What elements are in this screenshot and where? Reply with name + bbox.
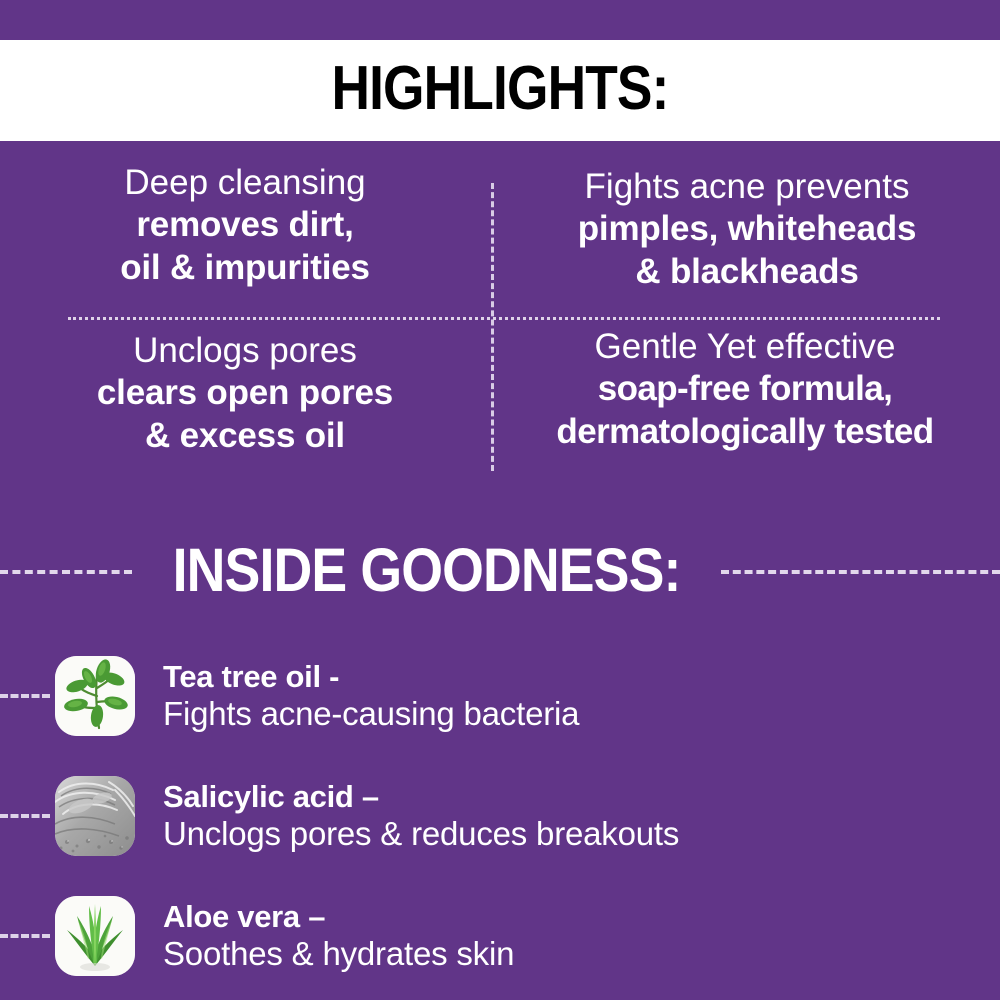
ingredient-connector-line [0, 694, 50, 698]
ingredient-name: Aloe vera – [163, 899, 514, 935]
inside-goodness-title: INSIDE GOODNESS: [167, 540, 685, 601]
inside-goodness-heading-row: INSIDE GOODNESS: [0, 534, 1000, 606]
highlight-bold-text-line1: pimples, whiteheads [512, 208, 982, 250]
highlight-item-gentle-effective: Gentle Yet effective soap-free formula, … [510, 326, 980, 453]
highlight-bold-text-line1: removes dirt, [10, 204, 480, 246]
heading-dash-right [721, 570, 1000, 574]
ingredient-connector-line [0, 934, 50, 938]
page-title: HIGHLIGHTS: [331, 58, 668, 123]
highlights-header-band: HIGHLIGHTS: [0, 40, 1000, 141]
highlights-grid: Deep cleansing removes dirt, oil & impur… [0, 150, 1000, 490]
ingredient-name: Tea tree oil - [163, 659, 579, 695]
highlight-item-deep-cleansing: Deep cleansing removes dirt, oil & impur… [10, 162, 480, 289]
highlight-bold-text-line2: & excess oil [10, 415, 480, 457]
ingredient-connector-line [0, 814, 50, 818]
salicylic-gel-texture-icon [55, 776, 135, 856]
ingredient-description: Unclogs pores & reduces breakouts [163, 815, 679, 853]
highlight-bold-text-line1: soap-free formula, [510, 368, 980, 410]
grid-vertical-divider [491, 183, 494, 471]
highlight-bold-text-line2: & blackheads [512, 251, 982, 293]
product-highlights-infographic: HIGHLIGHTS: Deep cleansing removes dirt,… [0, 0, 1000, 1000]
ingredient-text-block: Tea tree oil - Fights acne-causing bacte… [163, 659, 579, 733]
ingredient-name: Salicylic acid – [163, 779, 679, 815]
ingredient-list: Tea tree oil - Fights acne-causing bacte… [0, 636, 1000, 996]
ingredient-description: Soothes & hydrates skin [163, 935, 514, 973]
highlight-light-text: Gentle Yet effective [510, 326, 980, 368]
ingredient-row-aloe-vera: Aloe vera – Soothes & hydrates skin [0, 876, 1000, 996]
highlight-item-fights-acne: Fights acne prevents pimples, whiteheads… [512, 166, 982, 293]
highlight-bold-text-line1: clears open pores [10, 372, 480, 414]
heading-dash-left [0, 570, 132, 574]
highlight-light-text: Fights acne prevents [512, 166, 982, 208]
grid-horizontal-divider [68, 317, 940, 320]
highlight-bold-text-line2: oil & impurities [10, 247, 480, 289]
highlight-light-text: Deep cleansing [10, 162, 480, 204]
ingredient-row-tea-tree-oil: Tea tree oil - Fights acne-causing bacte… [0, 636, 1000, 756]
ingredient-description: Fights acne-causing bacteria [163, 695, 579, 733]
ingredient-row-salicylic-acid: Salicylic acid – Unclogs pores & reduces… [0, 756, 1000, 876]
highlight-bold-text-line2: dermatologically tested [510, 411, 980, 453]
aloe-vera-plant-icon [55, 896, 135, 976]
tea-tree-leaf-icon [55, 656, 135, 736]
ingredient-text-block: Salicylic acid – Unclogs pores & reduces… [163, 779, 679, 853]
highlight-light-text: Unclogs pores [10, 330, 480, 372]
highlight-item-unclogs-pores: Unclogs pores clears open pores & excess… [10, 330, 480, 457]
ingredient-text-block: Aloe vera – Soothes & hydrates skin [163, 899, 514, 973]
